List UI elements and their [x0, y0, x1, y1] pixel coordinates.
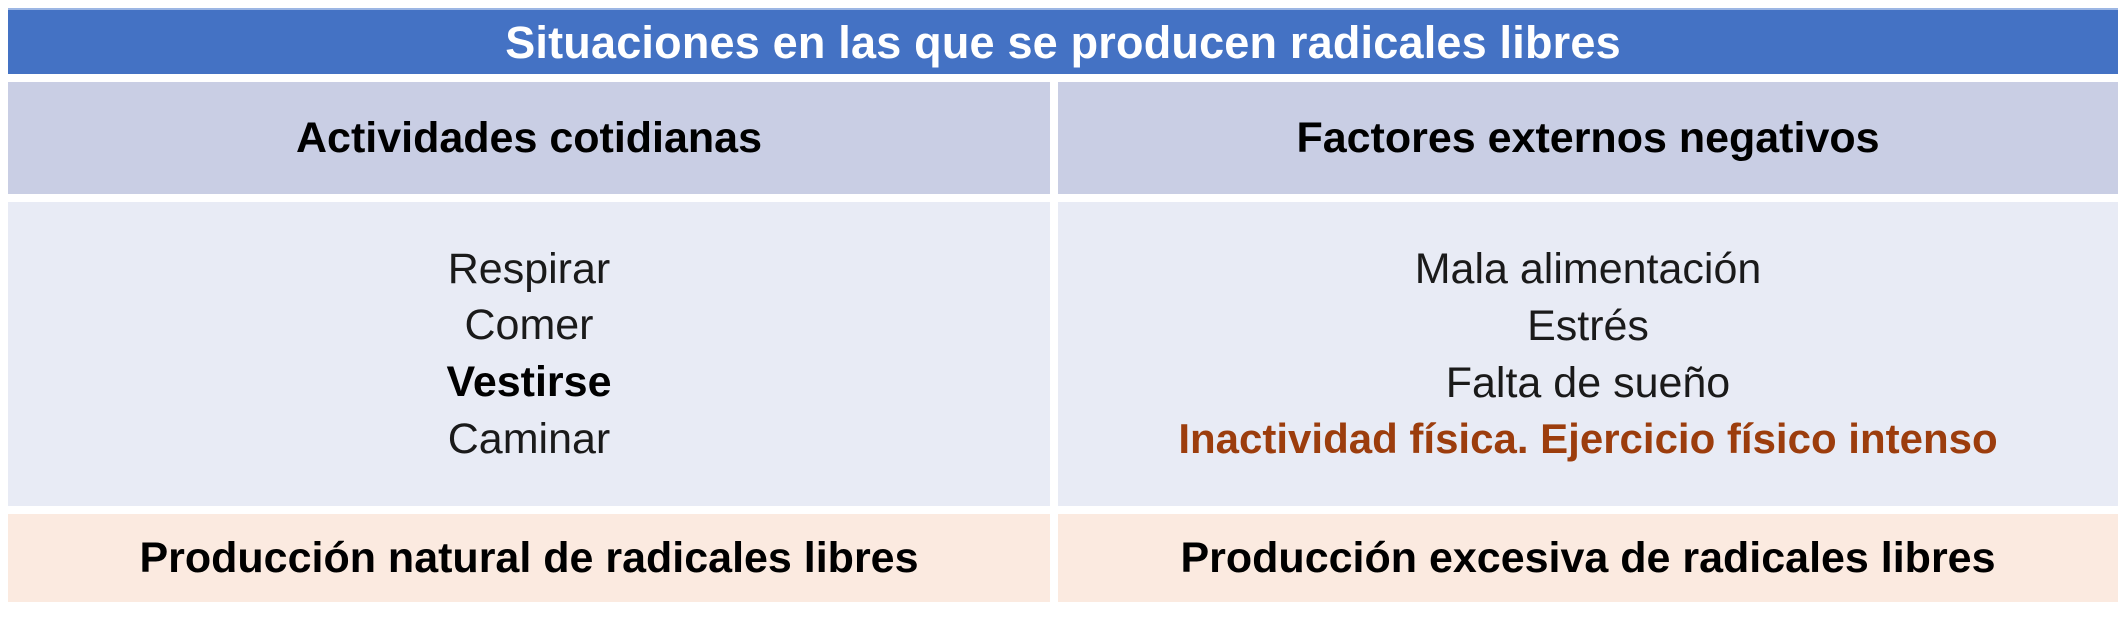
row-gap [8, 74, 2118, 82]
column-divider [1050, 514, 1058, 602]
list-item: Estrés [1527, 298, 1649, 355]
row-gap [8, 506, 2118, 514]
list-item: Vestirse [447, 354, 612, 411]
row-gap [8, 194, 2118, 202]
list-item: Caminar [448, 411, 611, 468]
column-header-cell-right: Factores externos negativos [1058, 82, 2118, 194]
list-item: Mala alimentación [1415, 241, 1762, 298]
body-row: Respirar Comer Vestirse Caminar Mala ali… [8, 202, 2118, 506]
list-item-highlighted: Inactividad física. Ejercicio físico int… [1178, 411, 1997, 466]
list-item: Respirar [448, 241, 611, 298]
footer-cell-left: Producción natural de radicales libres [8, 514, 1050, 602]
column-header-row: Actividades cotidianas Factores externos… [8, 82, 2118, 194]
footer-produccion-excesiva: Producción excesiva de radicales libres [1180, 537, 1995, 580]
column-divider [1050, 82, 1058, 194]
footer-cell-right: Producción excesiva de radicales libres [1058, 514, 2118, 602]
column-header-cell-left: Actividades cotidianas [8, 82, 1050, 194]
table-title-row: Situaciones en las que se producen radic… [8, 8, 2118, 74]
list-item: Comer [464, 297, 593, 354]
column-header-factores-externos-negativos: Factores externos negativos [1296, 117, 1879, 160]
list-item: Falta de sueño [1446, 355, 1730, 412]
footer-row: Producción natural de radicales libres P… [8, 514, 2118, 602]
body-cell-factores-externos-negativos: Mala alimentación Estrés Falta de sueño … [1058, 202, 2118, 506]
column-header-actividades-cotidianas: Actividades cotidianas [296, 117, 762, 160]
body-cell-actividades-cotidianas: Respirar Comer Vestirse Caminar [8, 202, 1050, 506]
column-divider [1050, 202, 1058, 506]
footer-produccion-natural: Producción natural de radicales libres [139, 537, 918, 580]
radical-libres-table: Situaciones en las que se producen radic… [8, 8, 2118, 600]
table-title: Situaciones en las que se producen radic… [505, 20, 1621, 65]
